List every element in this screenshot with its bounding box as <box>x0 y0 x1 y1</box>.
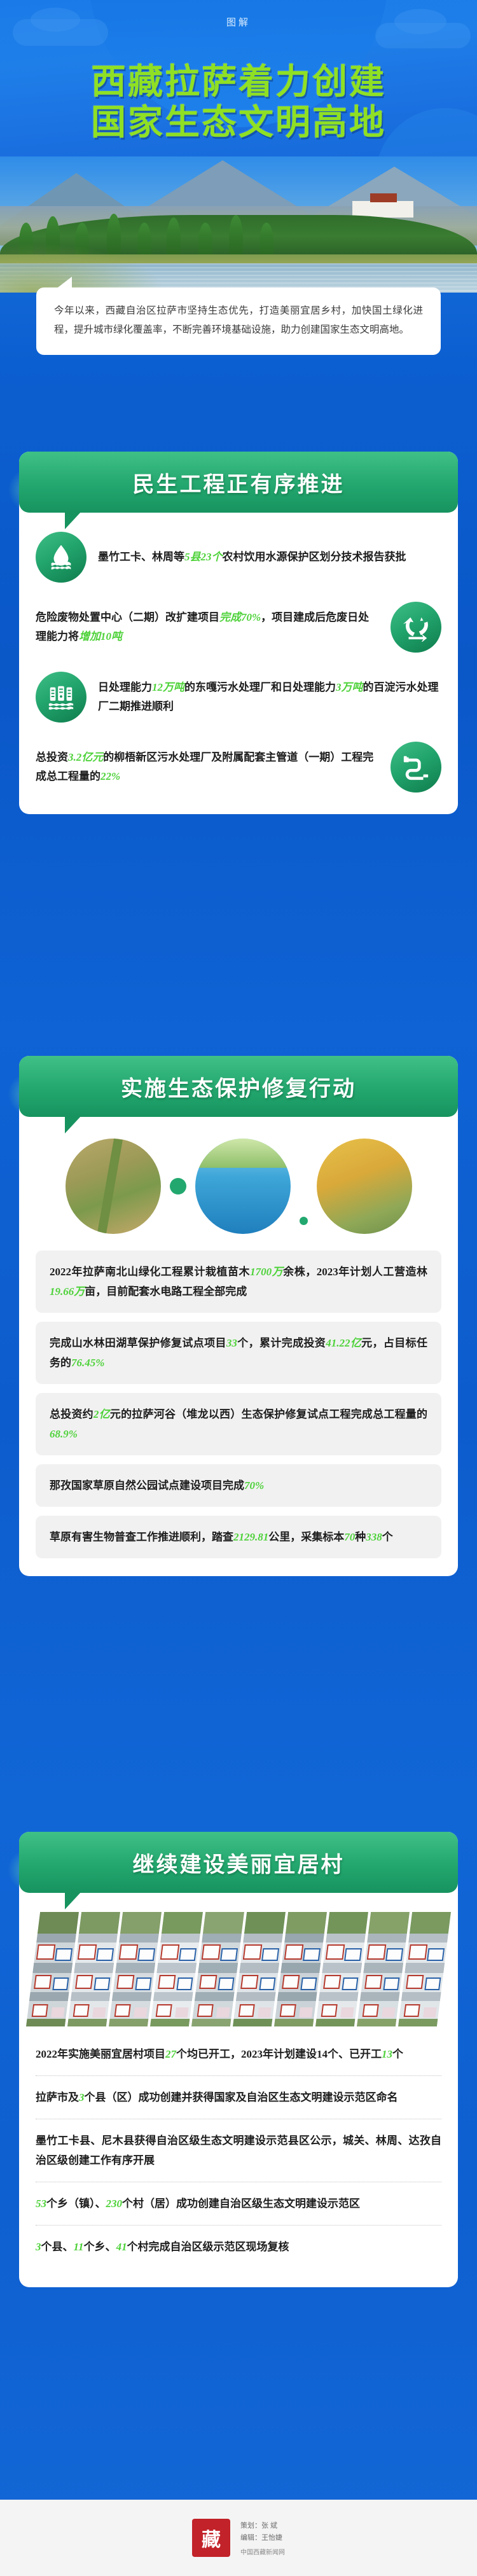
body-text: 个村完成自治区级示范区现场复核 <box>127 2241 289 2253</box>
body-text: 那孜国家草原自然公园试点建设项目完成 <box>50 1479 244 1492</box>
hero-title-line2: 国家生态文明高地 <box>0 102 477 142</box>
site-logo: 藏 <box>192 2519 230 2557</box>
footer-credit-2: 编辑：王怡婕 <box>240 2532 285 2544</box>
hero-label: 图解 <box>0 15 477 29</box>
body-text: 个 <box>382 1531 393 1543</box>
section-3-collage <box>19 1893 458 2026</box>
highlight-number: 70% <box>244 1479 264 1492</box>
highlight-number: 76.45% <box>71 1357 104 1369</box>
body-text: 个乡（镇）、 <box>46 2198 106 2210</box>
highlight-number: 41 <box>116 2241 127 2253</box>
highlight-number: 13 <box>382 2048 392 2060</box>
farmland-aerial-photo <box>66 1139 161 1234</box>
body-text: 个县（区）成功创建并获得国家及自治区生态文明建设示范区命名 <box>85 2091 398 2103</box>
section-2-blocks: 2022年拉萨南北山绿化工程累计栽植苗木1700万余株，2023年计划人工营造林… <box>19 1239 458 1576</box>
section-1-item: 日处理能力12万吨的东嘎污水处理厂和日处理能力3万吨的百淀污水处理厂二期推进顺利 <box>36 672 441 723</box>
body-text: 元的拉萨河谷（堆龙以西）生态保护修复试点工程完成总工程量的 <box>110 1408 427 1420</box>
section-1-item: 危险废物处置中心（二期）改扩建项目完成70%，项目建成后危废日处理能力将增加10… <box>36 602 441 653</box>
intro-text: 今年以来，西藏自治区拉萨市坚持生态优先，打造美丽宜居乡村，加快国土绿化进程，提升… <box>36 287 441 355</box>
body-text: 个乡、 <box>84 2241 116 2253</box>
body-text: 个，累计完成投资 <box>237 1337 326 1349</box>
hero-photo-lhasa <box>0 156 477 293</box>
section-1-item: 墨竹工卡、林周等5县23个农村饮用水源保护区划分技术报告获批 <box>36 532 441 583</box>
section-2-item: 总投资约2亿元的拉萨河谷（堆龙以西）生态保护修复试点工程完成总工程量的68.9% <box>36 1393 441 1455</box>
photo-dot-decoration <box>170 1178 186 1195</box>
section-1-header-tail <box>65 511 81 529</box>
footer: 藏 策划：张 斌 编辑：王怡婕 中国西藏新闻网 <box>0 2500 477 2576</box>
highlight-number: 19.66万 <box>50 1285 85 1298</box>
highlight-number: 1700万 <box>250 1266 283 1278</box>
section-1-header: 民生工程正有序推进 <box>19 452 458 513</box>
water-drop-icon <box>36 532 86 583</box>
highlight-number: 22% <box>100 770 120 782</box>
highlight-number: 3 <box>36 2241 41 2253</box>
section-1-item-text: 总投资3.2亿元的柳梧新区污水处理厂及附属配套主管道（一期）工程完成总工程量的2… <box>36 748 379 786</box>
section-1-item: 总投资3.2亿元的柳梧新区污水处理厂及附属配套主管道（一期）工程完成总工程量的2… <box>36 742 441 793</box>
section-2-header: 实施生态保护修复行动 <box>19 1056 458 1117</box>
highlight-number: 68.9% <box>50 1428 78 1440</box>
section-3-header: 继续建设美丽宜居村 <box>19 1832 458 1893</box>
highlight-number: 53 <box>36 2198 46 2210</box>
section-1: 民生工程正有序推进 墨竹工卡、林周等5县23个农村饮用水源保护区划分技术报告获批… <box>19 452 458 814</box>
highlight-number: 增加10吨 <box>79 630 122 642</box>
body-text: 墨竹工卡县、尼木县获得自治区级生态文明建设示范县区公示，城关、林周、达孜自治区级… <box>36 2135 441 2166</box>
body-text: 日处理能力 <box>98 681 152 693</box>
section-3-item: 2022年实施美丽宜居村项目27个均已开工，2023年计划建设14个、已开工13… <box>36 2033 441 2076</box>
body-text: 的东嘎污水处理厂和日处理能力 <box>184 681 336 693</box>
highlight-number: 41.22亿 <box>326 1337 361 1349</box>
logo-character: 藏 <box>192 2519 230 2557</box>
intro-callout-tail <box>55 277 72 289</box>
section-3-header-tail <box>65 1892 81 1909</box>
section-2-item: 2022年拉萨南北山绿化工程累计栽植苗木1700万余株，2023年计划人工营造林… <box>36 1250 441 1313</box>
body-text: 个县、 <box>41 2241 74 2253</box>
recycle-icon <box>391 602 441 653</box>
body-text: 草原有害生物普查工作推进顺利，踏查 <box>50 1531 233 1543</box>
hero-title-line1: 西藏拉萨着力创建 <box>0 61 477 102</box>
body-text: 总投资约 <box>50 1408 93 1420</box>
section-1-list: 墨竹工卡、林周等5县23个农村饮用水源保护区划分技术报告获批危险废物处置中心（二… <box>19 513 458 814</box>
body-text: 完成山水林田湖草保护修复试点项目 <box>50 1337 226 1349</box>
potala-palace <box>352 192 413 218</box>
highlight-number: 完成70% <box>219 611 261 623</box>
highlight-number: 230 <box>106 2198 123 2210</box>
section-2-item: 草原有害生物普查工作推进顺利，踏查2129.81公里，采集标本70种338个 <box>36 1516 441 1558</box>
section-3-item: 墨竹工卡县、尼木县获得自治区级生态文明建设示范县区公示，城关、林周、达孜自治区级… <box>36 2119 441 2182</box>
section-1-item-text: 墨竹工卡、林周等5县23个农村饮用水源保护区划分技术报告获批 <box>98 548 441 567</box>
section-3-list: 2022年实施美丽宜居村项目27个均已开工，2023年计划建设14个、已开工13… <box>19 2026 458 2287</box>
body-text: 亩，目前配套水电路工程全部完成 <box>85 1285 247 1298</box>
body-text: 公里，采集标本 <box>268 1531 344 1543</box>
section-3-item: 拉萨市及3个县（区）成功创建并获得国家及自治区生态文明建设示范区命名 <box>36 2076 441 2119</box>
hero-banner: 图解 西藏拉萨着力创建 国家生态文明高地 <box>0 0 477 293</box>
section-2-item: 那孜国家草原自然公园试点建设项目完成70% <box>36 1464 441 1507</box>
highlight-number: 5县23个 <box>184 551 223 563</box>
section-2-header-tail <box>65 1116 81 1133</box>
body-text: 种 <box>355 1531 366 1543</box>
section-1-item-text: 危险废物处置中心（二期）改扩建项目完成70%，项目建成后危废日处理能力将增加10… <box>36 608 379 646</box>
body-text: 个 <box>392 2048 403 2060</box>
highlight-number: 33 <box>226 1337 237 1349</box>
footer-brand: 中国西藏新闻网 <box>240 2547 285 2556</box>
section-3-item: 53个乡（镇）、230个村（居）成功创建自治区级生态文明建设示范区 <box>36 2182 441 2226</box>
body-text: 个均已开工，2023年计划建设14个、已开工 <box>176 2048 382 2060</box>
highlight-number: 2129.81 <box>233 1531 268 1543</box>
body-text: 总投资 <box>36 751 68 763</box>
body-text: 农村饮用水源保护区划分技术报告获批 <box>223 551 406 563</box>
photo-dot-decoration-small <box>300 1217 308 1225</box>
body-text: 2022年实施美丽宜居村项目 <box>36 2048 165 2060</box>
highlight-number: 70 <box>344 1531 355 1543</box>
highlight-number: 338 <box>366 1531 382 1543</box>
body-text: 余株，2023年计划人工营造林 <box>283 1266 427 1278</box>
highlight-number: 27 <box>165 2048 176 2060</box>
section-3-item: 3个县、11个乡、41个村完成自治区级示范区现场复核 <box>36 2226 441 2268</box>
potala-red-palace <box>370 193 397 202</box>
section-3: 继续建设美丽宜居村 2022年实施美丽宜居村项目27个均已开工，2023年计划建… <box>19 1832 458 2287</box>
photo-foreground-grass <box>0 243 165 293</box>
highlight-number: 3万吨 <box>336 681 363 693</box>
highlight-number: 3 <box>79 2091 85 2103</box>
footer-text-group: 策划：张 斌 编辑：王怡婕 中国西藏新闻网 <box>240 2520 285 2556</box>
river-wetland-photo <box>195 1139 291 1234</box>
pipeline-icon <box>391 742 441 793</box>
section-3-title: 继续建设美丽宜居村 <box>133 1847 345 1878</box>
intro-callout: 今年以来，西藏自治区拉萨市坚持生态优先，打造美丽宜居乡村，加快国土绿化进程，提升… <box>36 287 441 355</box>
body-text: 2022年拉萨南北山绿化工程累计栽植苗木 <box>50 1266 250 1278</box>
highlight-number: 2亿 <box>93 1408 110 1420</box>
body-text: 个村（居）成功创建自治区级生态文明建设示范区 <box>122 2198 360 2210</box>
section-2: 实施生态保护修复行动 2022年拉萨南北山绿化工程累计栽植苗木1700万余株，2… <box>19 1056 458 1576</box>
highlight-number: 3.2亿元 <box>68 751 103 763</box>
section-1-item-text: 日处理能力12万吨的东嘎污水处理厂和日处理能力3万吨的百淀污水处理厂二期推进顺利 <box>98 678 441 716</box>
section-2-title: 实施生态保护修复行动 <box>121 1071 356 1102</box>
body-text: 拉萨市及 <box>36 2091 79 2103</box>
autumn-forest-photo <box>317 1139 412 1234</box>
section-2-item: 完成山水林田湖草保护修复试点项目33个，累计完成投资41.22亿元，占目标任务的… <box>36 1322 441 1384</box>
body-text: 危险废物处置中心（二期）改扩建项目 <box>36 611 219 623</box>
section-1-title: 民生工程正有序推进 <box>133 467 345 498</box>
highlight-number: 12万吨 <box>152 681 184 693</box>
footer-credit-1: 策划：张 斌 <box>240 2520 285 2532</box>
body-text: 墨竹工卡、林周等 <box>98 551 184 563</box>
potala-white-wing <box>352 201 413 218</box>
wastewater-plant-icon <box>36 672 86 723</box>
highlight-number: 11 <box>74 2241 84 2253</box>
section-2-photo-row <box>19 1117 458 1239</box>
hero-title: 西藏拉萨着力创建 国家生态文明高地 <box>0 61 477 142</box>
